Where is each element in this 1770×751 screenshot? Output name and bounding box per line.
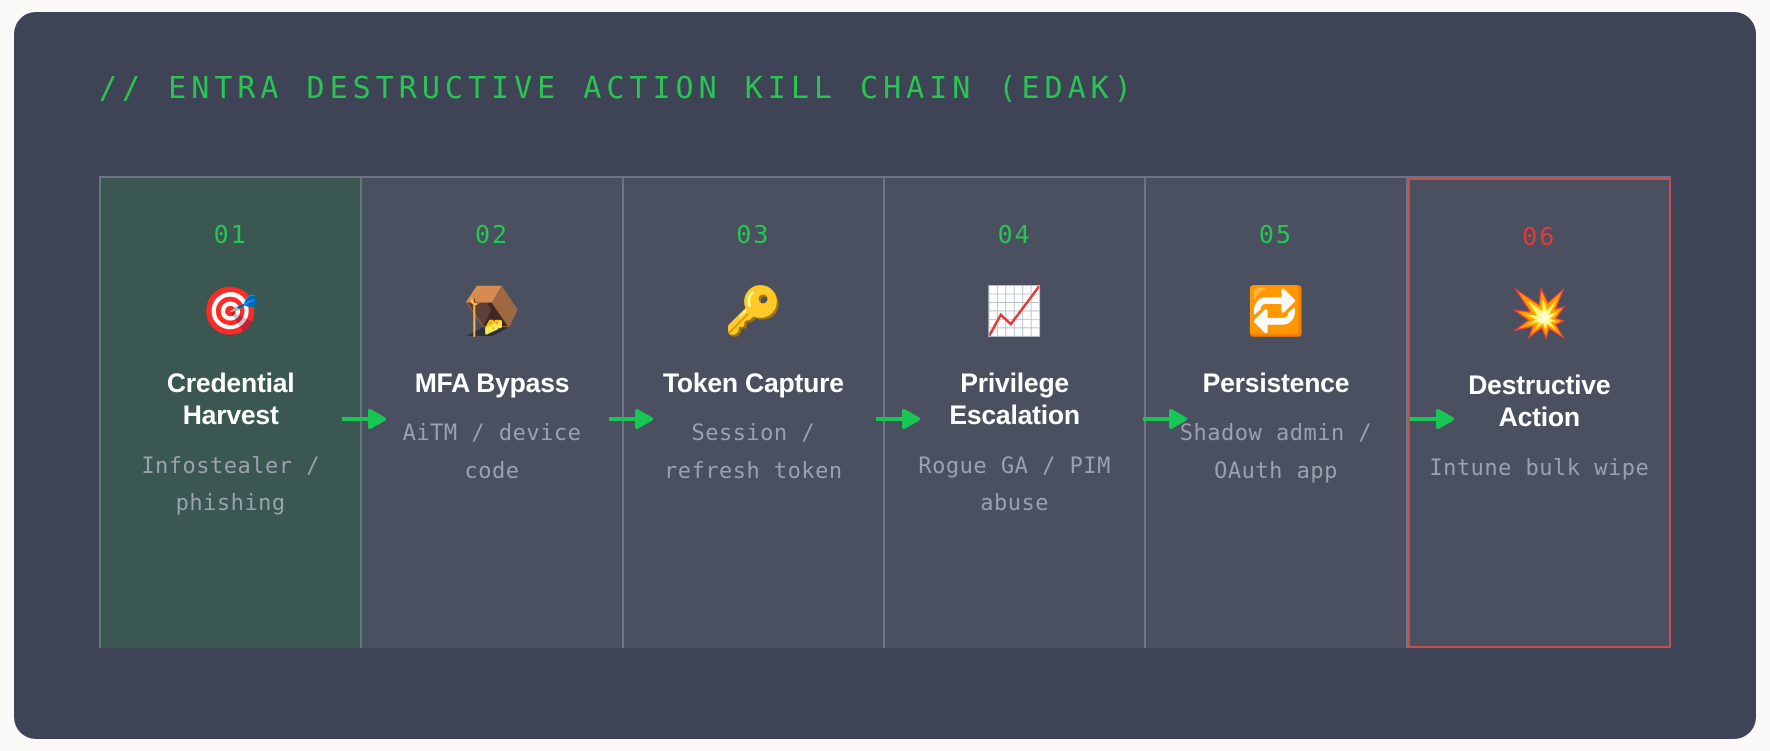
step-description-06: Intune bulk wipe <box>1429 450 1649 487</box>
kill-chain-row: 01 🎯 Credential Harvest Infostealer / ph… <box>99 176 1671 648</box>
step-title-06: Destructive Action <box>1428 369 1651 434</box>
step-description-04: Rogue GA / PIM abuse <box>903 448 1126 523</box>
step-description-02: AiTM / device code <box>380 415 603 490</box>
kill-chain-panel: // ENTRA DESTRUCTIVE ACTION KILL CHAIN (… <box>14 12 1756 739</box>
page-title: // ENTRA DESTRUCTIVE ACTION KILL CHAIN (… <box>99 74 1671 104</box>
target-icon: 🎯 <box>201 281 260 339</box>
step-card-05[interactable]: 05 🔁 Persistence Shadow admin / OAuth ap… <box>1146 178 1407 648</box>
step-description-01: Infostealer / phishing <box>119 448 342 523</box>
page-root: // ENTRA DESTRUCTIVE ACTION KILL CHAIN (… <box>0 0 1770 751</box>
step-card-02[interactable]: 02 🪤 MFA Bypass AiTM / device code <box>362 178 623 648</box>
step-number-01: 01 <box>214 222 248 247</box>
step-description-03: Session / refresh token <box>642 415 865 490</box>
step-number-04: 04 <box>998 222 1032 247</box>
step-title-05: Persistence <box>1203 367 1350 399</box>
key-icon: 🔑 <box>724 281 783 339</box>
step-title-03: Token Capture <box>663 367 844 399</box>
step-title-01: Credential Harvest <box>119 367 342 432</box>
step-title-04: Privilege Escalation <box>903 367 1126 432</box>
step-card-06[interactable]: 06 💥 Destructive Action Intune bulk wipe <box>1408 178 1671 648</box>
mousetrap-icon: 🪤 <box>463 281 522 339</box>
step-number-03: 03 <box>736 222 770 247</box>
step-number-05: 05 <box>1259 222 1293 247</box>
step-description-05: Shadow admin / OAuth app <box>1164 415 1387 490</box>
collision-icon: 💥 <box>1510 283 1569 341</box>
step-title-02: MFA Bypass <box>415 367 570 399</box>
step-card-03[interactable]: 03 🔑 Token Capture Session / refresh tok… <box>624 178 885 648</box>
step-card-04[interactable]: 04 📈 Privilege Escalation Rogue GA / PIM… <box>885 178 1146 648</box>
step-card-01[interactable]: 01 🎯 Credential Harvest Infostealer / ph… <box>99 178 362 648</box>
chart-increasing-icon: 📈 <box>985 281 1044 339</box>
repeat-icon: 🔁 <box>1247 281 1306 339</box>
step-number-02: 02 <box>475 222 509 247</box>
step-number-06: 06 <box>1522 224 1556 249</box>
